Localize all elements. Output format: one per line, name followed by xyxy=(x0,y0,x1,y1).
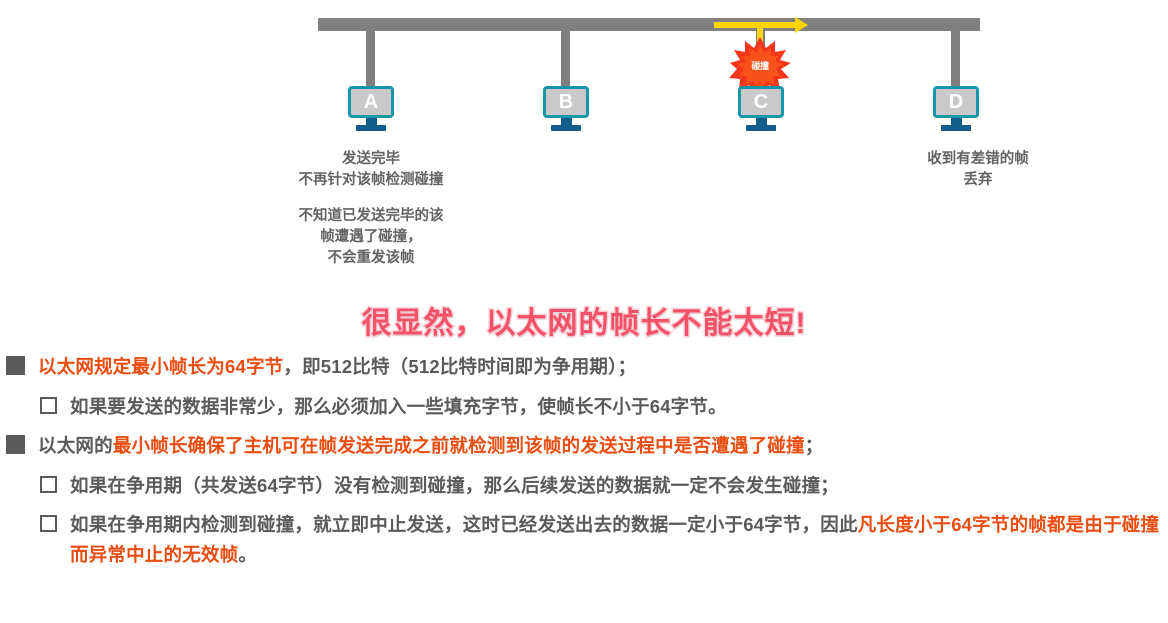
host-node-c[interactable]: C xyxy=(733,86,789,131)
ethernet-bus-diagram: 碰撞 A B C D 发送完毕 不再针对该帧检测碰撞 不知道已发送完毕的该 帧遭… xyxy=(0,0,1168,290)
monitor-stand-neck xyxy=(366,118,377,125)
bullet-text: 以太网规定最小帧长为64字节，即512比特（512比特时间即为争用期）； xyxy=(38,352,636,382)
bullet-text-segment: ，即512比特（512比特时间即为争用期）； xyxy=(283,356,636,377)
bullet-text-segment: ； xyxy=(805,435,824,456)
bullet-row: 以太网规定最小帧长为64字节，即512比特（512比特时间即为争用期）； xyxy=(0,352,1168,382)
collision-burst-icon: 碰撞 xyxy=(729,37,791,93)
bullet-text-segment: 如果在争用期（共发送64字节）没有检测到碰撞，那么后续发送的数据就一定不会发生碰… xyxy=(70,475,839,496)
signal-arrow-icon xyxy=(795,17,808,33)
caption-a-primary: 发送完毕 不再针对该帧检测碰撞 xyxy=(255,149,487,191)
bullet-row: 如果要发送的数据非常少，那么必须加入一些填充字节，使帧长不小于64字节。 xyxy=(0,392,1168,422)
monitor-icon: D xyxy=(933,86,979,118)
caption-d: 收到有差错的帧 丢弃 xyxy=(858,149,1098,191)
bullet-text: 如果要发送的数据非常少，那么必须加入一些填充字节，使帧长不小于64字节。 xyxy=(70,392,727,422)
collision-label: 碰撞 xyxy=(729,37,791,93)
host-node-d[interactable]: D xyxy=(928,86,984,131)
signal-horizontal-segment xyxy=(714,22,800,28)
filled-square-bullet-icon xyxy=(6,435,25,454)
monitor-icon: A xyxy=(348,86,394,118)
monitor-stand-base xyxy=(551,125,581,131)
bullet-row: 如果在争用期内检测到碰撞，就立即中止发送，这时已经发送出去的数据一定小于64字节… xyxy=(0,510,1168,569)
drop-line-a xyxy=(366,28,375,90)
host-node-b[interactable]: B xyxy=(538,86,594,131)
monitor-stand-neck xyxy=(561,118,572,125)
drop-line-b xyxy=(561,28,570,90)
host-label-c: C xyxy=(754,92,768,112)
bullet-text-segment: 以太网的 xyxy=(38,435,113,456)
bullet-text-segment: 如果在争用期内检测到碰撞，就立即中止发送，这时已经发送出去的数据一定小于64字节… xyxy=(70,514,858,535)
bullet-text: 以太网的最小帧长确保了主机可在帧发送完成之前就检测到该帧的发送过程中是否遭遇了碰… xyxy=(38,431,823,461)
bullet-row: 以太网的最小帧长确保了主机可在帧发送完成之前就检测到该帧的发送过程中是否遭遇了碰… xyxy=(0,431,1168,461)
monitor-icon: C xyxy=(738,86,784,118)
bullet-text-segment: 以太网规定最小帧长为64字节 xyxy=(38,356,283,377)
filled-square-bullet-icon xyxy=(6,356,25,375)
bullet-text-segment: 如果要发送的数据非常少，那么必须加入一些填充字节，使帧长不小于64字节。 xyxy=(70,396,727,417)
page-headline: 很显然，以太网的帧长不能太短! xyxy=(0,298,1168,342)
bullet-text: 如果在争用期内检测到碰撞，就立即中止发送，这时已经发送出去的数据一定小于64字节… xyxy=(70,510,1168,569)
monitor-stand-base xyxy=(746,125,776,131)
host-label-d: D xyxy=(949,92,963,112)
host-label-b: B xyxy=(559,92,573,112)
bus-cable xyxy=(318,18,980,31)
monitor-icon: B xyxy=(543,86,589,118)
hollow-square-bullet-icon xyxy=(40,515,57,532)
bullet-text-segment: 最小帧长确保了主机可在帧发送完成之前就检测到该帧的发送过程中是否遭遇了碰撞 xyxy=(113,435,805,456)
bullet-list: 以太网规定最小帧长为64字节，即512比特（512比特时间即为争用期）；如果要发… xyxy=(0,352,1168,580)
drop-line-d xyxy=(951,28,960,90)
host-label-a: A xyxy=(364,92,378,112)
hollow-square-bullet-icon xyxy=(40,476,57,493)
monitor-stand-neck xyxy=(951,118,962,125)
host-node-a[interactable]: A xyxy=(343,86,399,131)
monitor-stand-neck xyxy=(756,118,767,125)
hollow-square-bullet-icon xyxy=(40,397,57,414)
caption-a-secondary: 不知道已发送完毕的该 帧遭遇了碰撞， 不会重发该帧 xyxy=(258,206,484,269)
bullet-text: 如果在争用期（共发送64字节）没有检测到碰撞，那么后续发送的数据就一定不会发生碰… xyxy=(70,471,839,501)
bullet-row: 如果在争用期（共发送64字节）没有检测到碰撞，那么后续发送的数据就一定不会发生碰… xyxy=(0,471,1168,501)
bullet-text-segment: 。 xyxy=(238,544,257,565)
monitor-stand-base xyxy=(941,125,971,131)
monitor-stand-base xyxy=(356,125,386,131)
